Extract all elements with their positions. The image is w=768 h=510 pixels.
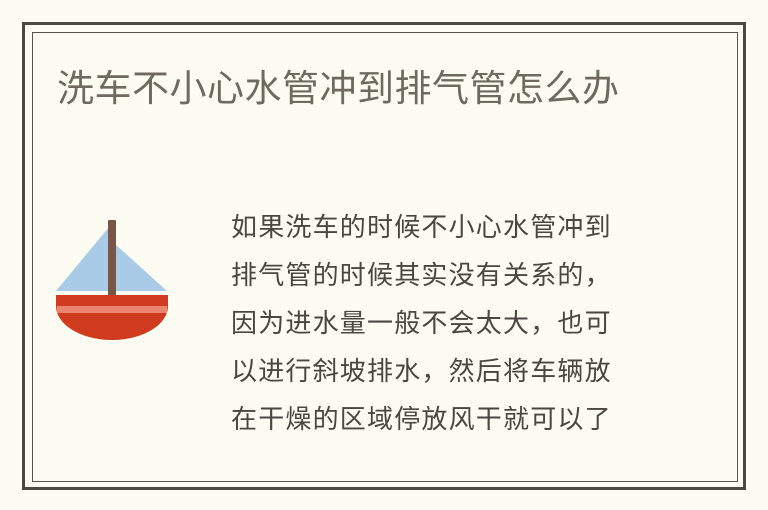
article-card: 洗车不小心水管冲到排气管怎么办 如果洗车的时候不小心水管冲到排气管的时候其实没有… (0, 0, 768, 510)
illustration-container (32, 204, 192, 340)
article-body-text: 如果洗车的时候不小心水管冲到排气管的时候其实没有关系的，因为进水量一般不会太大，… (192, 204, 617, 444)
article-body-row: 如果洗车的时候不小心水管冲到排气管的时候其实没有关系的，因为进水量一般不会太大，… (32, 204, 738, 444)
card-content: 洗车不小心水管冲到排气管怎么办 如果洗车的时候不小心水管冲到排气管的时候其实没有… (32, 32, 738, 482)
sailboat-icon (50, 212, 174, 340)
page-title: 洗车不小心水管冲到排气管怎么办 (57, 59, 637, 119)
